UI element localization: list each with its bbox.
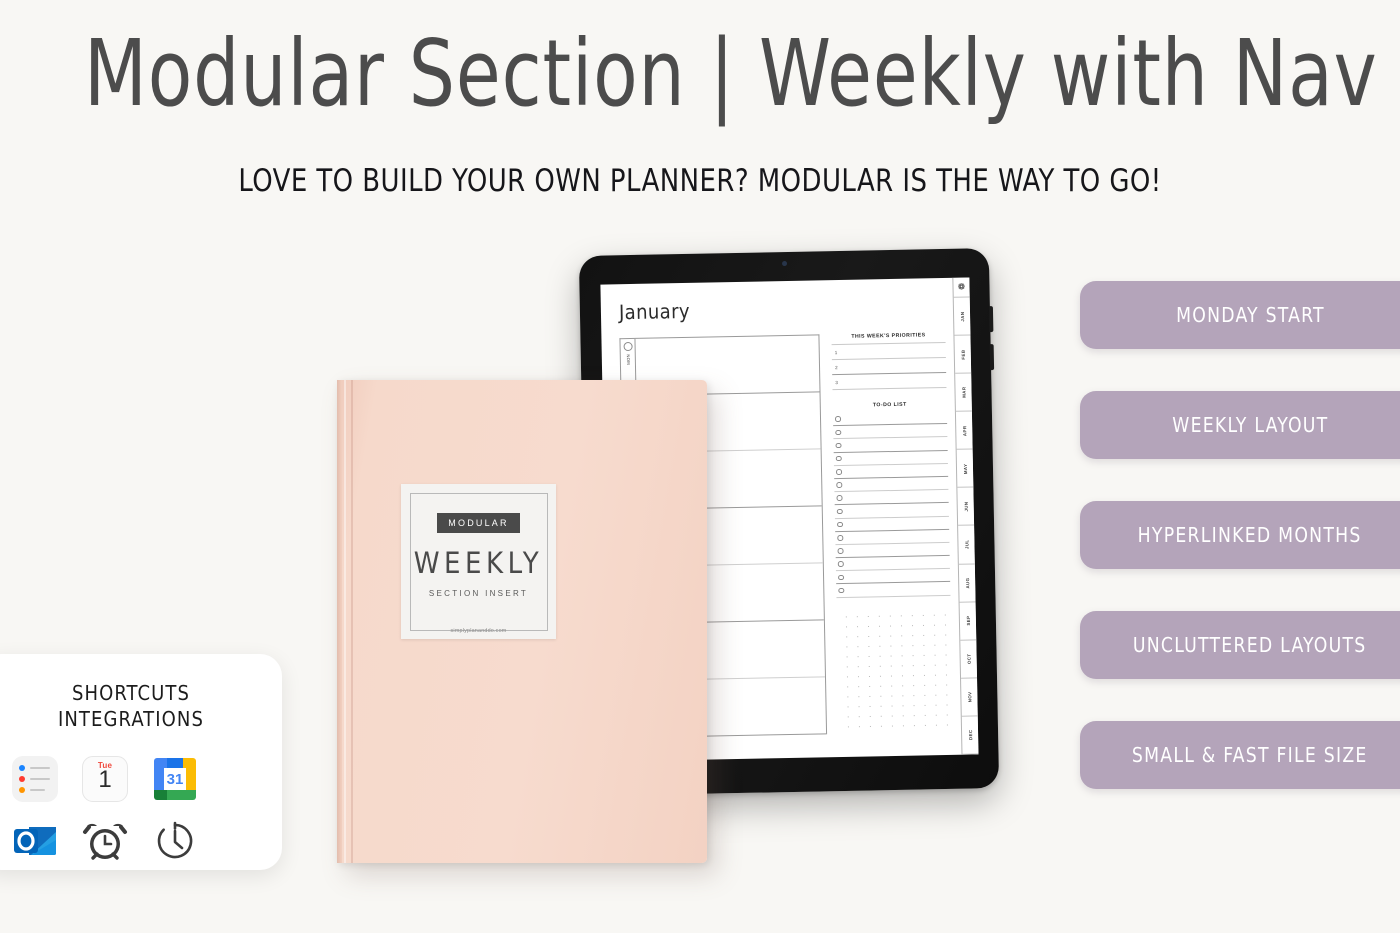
month-nav-tab[interactable]: NOV [961,678,978,716]
todo-list [833,411,951,598]
priority-number: 1 [835,350,838,355]
month-nav-tab[interactable]: APR [956,412,973,450]
modular-badge: MODULAR [437,513,519,533]
priority-number: 3 [835,380,838,385]
apple-calendar-date: 1 [98,769,111,792]
page-subtitle: LOVE TO BUILD YOUR OWN PLANNER? MODULAR … [49,163,1351,199]
month-nav-tab[interactable]: DEC [962,716,979,754]
todo-checkbox-icon[interactable] [837,522,843,528]
month-nav-label: JUN [963,501,968,511]
feature-pill[interactable]: MONDAY START [1080,281,1400,349]
month-nav-label: OCT [966,654,971,665]
camera-icon [781,261,786,266]
day-circle-icon [623,342,632,351]
todo-checkbox-icon[interactable] [838,588,844,594]
todo-heading: TO-DO LIST [833,401,947,409]
month-nav-label: SEP [965,616,970,626]
month-nav-tab[interactable]: JUL [958,526,975,564]
book-subtitle: SECTION INSERT [429,589,528,598]
feature-pill-label: SMALL & FAST FILE SIZE [1132,743,1368,767]
book-cover-label-inner: MODULAR WEEKLY SECTION INSERT simplyplan… [410,493,548,631]
month-nav-tab[interactable]: JUN [957,488,974,526]
feature-pill[interactable]: UNCLUTTERED LAYOUTS [1080,611,1400,679]
month-nav-tab[interactable]: SEP [960,602,977,640]
month-nav-label: MAR [961,387,966,398]
book-spine-edge [337,380,342,863]
todo-checkbox-icon[interactable] [835,430,841,436]
shortcut-icon-grid: Tue 1 31 [0,748,282,872]
feature-pill[interactable]: WEEKLY LAYOUT [1080,391,1400,459]
feature-pill-label: MONDAY START [1176,303,1325,327]
priorities-heading: THIS WEEK'S PRIORITIES [831,332,945,340]
alarm-clock-glyph [82,818,128,864]
day-name-label: MON [625,354,630,365]
todo-checkbox-icon[interactable] [838,561,844,567]
month-nav-label: MAY [962,463,967,474]
todo-checkbox-icon[interactable] [836,482,842,488]
timer-clock-glyph [152,818,198,864]
feature-list: MONDAY STARTWEEKLY LAYOUTHYPERLINKED MON… [1080,281,1400,789]
feature-pill[interactable]: SMALL & FAST FILE SIZE [1080,721,1400,789]
priority-number: 2 [835,365,838,370]
tablet-volume-button[interactable] [989,306,993,332]
month-nav-label: FEB [960,349,965,359]
shortcuts-card: SHORTCUTS INTEGRATIONS Tue 1 [0,654,282,870]
todo-row[interactable] [836,582,950,597]
feature-pill-label: WEEKLY LAYOUT [1172,413,1328,437]
side-column: THIS WEEK'S PRIORITIES 123 TO-DO LIST [831,332,953,734]
flower-icon[interactable]: ❁ [953,277,969,297]
feature-pill-label: HYPERLINKED MONTHS [1138,523,1362,547]
apple-calendar-icon[interactable]: Tue 1 [82,756,128,802]
todo-checkbox-icon[interactable] [836,469,842,475]
planner-book-cover: MODULAR WEEKLY SECTION INSERT simplyplan… [337,380,707,863]
month-nav-tab[interactable]: OCT [960,640,977,678]
apple-reminders-icon[interactable] [12,756,58,802]
month-nav-tab[interactable]: AUG [959,564,976,602]
todo-checkbox-icon[interactable] [835,443,841,449]
todo-checkbox-icon[interactable] [835,416,841,422]
shortcuts-title-line1: SHORTCUTS [0,680,282,706]
month-nav-tab[interactable]: MAY [957,450,974,488]
month-nav-label: JUL [964,540,969,550]
google-calendar-icon[interactable]: 31 [152,756,198,802]
todo-checkbox-icon[interactable] [837,535,843,541]
todo-checkbox-icon[interactable] [838,575,844,581]
book-website: simplyplananddo.com [451,628,507,634]
todo-checkbox-icon[interactable] [837,495,843,501]
month-nav-label: JAN [959,311,964,321]
timer-clock-icon[interactable] [152,818,198,864]
alarm-clock-icon[interactable] [82,818,128,864]
priority-row[interactable]: 3 [832,373,946,390]
planner-month-title: January [619,294,945,324]
shortcuts-title: SHORTCUTS INTEGRATIONS [0,680,282,732]
priorities-list: 123 [832,342,947,390]
book-title: WEEKLY [414,546,543,580]
month-nav-label: DEC [968,730,973,741]
feature-pill[interactable]: HYPERLINKED MONTHS [1080,501,1400,569]
tablet-power-button[interactable] [990,344,994,370]
todo-checkbox-icon[interactable] [837,509,843,515]
book-cover-label: MODULAR WEEKLY SECTION INSERT simplyplan… [401,484,556,639]
dot-grid-notes [837,606,953,735]
shortcuts-title-line2: INTEGRATIONS [0,706,282,732]
month-nav-label: APR [962,425,967,436]
feature-pill-label: UNCLUTTERED LAYOUTS [1133,633,1367,657]
month-nav-label: NOV [967,691,972,702]
month-nav-tab[interactable]: MAR [955,374,972,412]
month-nav-tab[interactable]: JAN [954,297,971,335]
book-spine-crease [351,380,353,863]
google-calendar-date: 31 [159,763,191,795]
month-nav-tab[interactable]: FEB [954,336,971,374]
page-title: Modular Section | Weekly with Nav [84,26,1316,123]
todo-checkbox-icon[interactable] [836,456,842,462]
book-spine-highlight [344,380,346,863]
month-nav-label: AUG [965,577,970,588]
microsoft-outlook-icon[interactable] [12,818,58,864]
todo-checkbox-icon[interactable] [838,548,844,554]
outlook-glyph [12,818,58,864]
